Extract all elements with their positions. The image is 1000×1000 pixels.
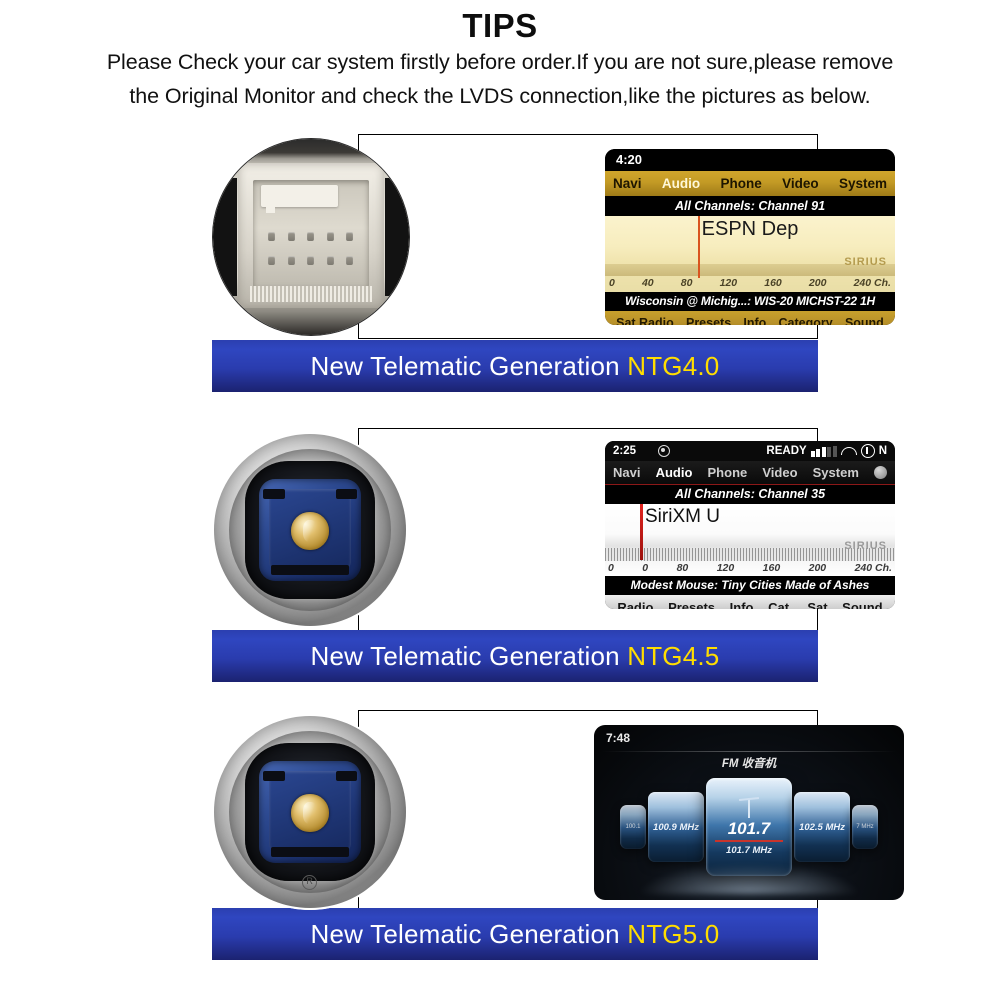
tick-240: 240 Ch. bbox=[854, 277, 891, 289]
antenna-icon bbox=[748, 798, 750, 818]
panel-ntg40-photo-frame: 4:20 Navi Audio Phone Video System All C… bbox=[358, 134, 818, 339]
info-bar-ntg40: Wisconsin @ Michig...: WIS-20 MICHST-22 … bbox=[605, 292, 895, 311]
menu-item-navi[interactable]: Navi bbox=[613, 176, 642, 191]
tuner-needle-ntg40[interactable] bbox=[698, 216, 700, 278]
carousel-tile-right-far[interactable]: 7 MHz bbox=[852, 805, 878, 849]
carousel-tile-left-far[interactable]: 100.1 bbox=[620, 805, 646, 849]
panel-ntg50: 7:48 FM 收音机 100.1 100.9 MHz 101.7 101.7 … bbox=[212, 710, 818, 915]
caption-prefix-ntg45: New Telematic Generation bbox=[311, 641, 628, 671]
carousel-tile-label: 100.1 bbox=[625, 824, 640, 830]
screen-clock-ntg45: 2:25 bbox=[613, 445, 636, 457]
tuner-area-ntg45: SiriXM U SIRIUS 0 0 80 120 160 200 240 C… bbox=[605, 504, 895, 576]
caption-prefix-ntg40: New Telematic Generation bbox=[311, 351, 628, 381]
screen-status-bar-ntg45: 2:25 READY N bbox=[605, 441, 895, 461]
status-ready-label: READY bbox=[766, 445, 806, 457]
header-divider bbox=[602, 751, 896, 752]
tick-80: 80 bbox=[677, 562, 689, 574]
station-name-ntg45: SiriXM U bbox=[645, 506, 720, 528]
tick-200: 200 bbox=[809, 562, 827, 574]
page-title: TIPS bbox=[0, 8, 1000, 44]
panel-ntg45-body: 2:25 READY N Navi Audio Phone Video bbox=[212, 428, 818, 633]
instruction-line-2: the Original Monitor and check the LVDS … bbox=[0, 80, 1000, 113]
screen-glow bbox=[637, 864, 860, 894]
sirius-logo-icon: SIRIUS bbox=[844, 540, 887, 552]
carousel-tile-selected[interactable]: 101.7 101.7 MHz bbox=[706, 778, 792, 876]
carousel-tile-right[interactable]: 102.5 MHz bbox=[794, 792, 850, 862]
selected-frequency-unit: 101.7 MHz bbox=[726, 845, 772, 856]
status-icon-group: READY N bbox=[766, 444, 887, 458]
fm-radio-label: FM 收音机 bbox=[594, 755, 904, 771]
menu-item-video[interactable]: Video bbox=[782, 176, 819, 191]
caption-text-ntg45: New Telematic Generation NTG4.5 bbox=[311, 641, 720, 672]
white-rectangular-lvds-connector-icon bbox=[213, 139, 409, 335]
panel-ntg50-body: 7:48 FM 收音机 100.1 100.9 MHz 101.7 101.7 … bbox=[212, 710, 818, 915]
head-unit-screen-ntg50: 7:48 FM 收音机 100.1 100.9 MHz 101.7 101.7 … bbox=[594, 725, 904, 900]
tips-header: TIPS Please Check your car system firstl… bbox=[0, 0, 1000, 113]
channel-bar-ntg40: All Channels: Channel 91 bbox=[605, 196, 895, 216]
selected-frequency: 101.7 bbox=[728, 820, 771, 837]
tuner-area-ntg40: ESPN Dep SIRIUS 0 40 80 120 160 200 240 … bbox=[605, 216, 895, 292]
carousel-tile-label: 7 MHz bbox=[856, 824, 873, 830]
screen-clock-ntg40: 4:20 bbox=[605, 149, 895, 171]
tick-160: 160 bbox=[764, 277, 782, 289]
bottom-item-presets[interactable]: Presets bbox=[668, 600, 715, 610]
carousel-tile-label: 102.5 MHz bbox=[799, 822, 845, 833]
bottom-item-radio[interactable]: Radio bbox=[617, 600, 653, 610]
carousel-tile-label: 100.9 MHz bbox=[653, 822, 699, 833]
panel-ntg45: 2:25 READY N Navi Audio Phone Video bbox=[212, 428, 818, 633]
screen-bottom-menu-ntg45: Radio Presets Info Cat. Sat Sound bbox=[605, 595, 895, 609]
tuner-ticks-ntg40: 0 40 80 120 160 200 240 Ch. bbox=[605, 275, 895, 291]
menu-item-system[interactable]: System bbox=[839, 176, 887, 191]
menu-item-phone[interactable]: Phone bbox=[708, 465, 748, 480]
tick-200: 200 bbox=[809, 277, 827, 289]
round-metal-lvds-connector-icon: R bbox=[212, 714, 408, 910]
bottom-item-info[interactable]: Info bbox=[743, 316, 766, 325]
warning-icon bbox=[861, 444, 875, 458]
record-dot-icon bbox=[658, 445, 670, 457]
station-name-ntg40: ESPN Dep bbox=[605, 218, 895, 241]
screen-menu-ntg45: Navi Audio Phone Video System bbox=[605, 461, 895, 485]
signal-bars-icon bbox=[811, 446, 837, 457]
caption-code-ntg40: NTG4.0 bbox=[627, 351, 719, 381]
phone-icon bbox=[841, 447, 857, 455]
caption-text-ntg40: New Telematic Generation NTG4.0 bbox=[311, 351, 720, 382]
bottom-item-sound[interactable]: Sound bbox=[842, 600, 882, 610]
caption-text-ntg50: New Telematic Generation NTG5.0 bbox=[311, 919, 720, 950]
tick-0a: 0 bbox=[608, 562, 614, 574]
round-metal-lvds-connector-icon bbox=[212, 432, 408, 628]
head-unit-screen-ntg40: 4:20 Navi Audio Phone Video System All C… bbox=[605, 149, 895, 325]
panel-ntg45-photo-frame: 2:25 READY N Navi Audio Phone Video bbox=[358, 428, 818, 633]
connector-photo-ntg45 bbox=[212, 432, 408, 628]
tick-0b: 0 bbox=[642, 562, 648, 574]
selected-underline bbox=[715, 840, 783, 842]
bottom-item-sat[interactable]: Sat bbox=[807, 600, 827, 610]
connector-photo-ntg50: R bbox=[212, 714, 408, 910]
tick-0: 0 bbox=[609, 277, 615, 289]
panel-ntg40-body: 4:20 Navi Audio Phone Video System All C… bbox=[212, 134, 818, 339]
menu-item-navi[interactable]: Navi bbox=[613, 465, 640, 480]
instruction-line-1: Please Check your car system firstly bef… bbox=[0, 46, 1000, 79]
screen-menu-ntg40: Navi Audio Phone Video System bbox=[605, 171, 895, 196]
bottom-item-info[interactable]: Info bbox=[730, 600, 754, 610]
globe-icon bbox=[874, 466, 887, 479]
caption-ntg40: New Telematic Generation NTG4.0 bbox=[212, 340, 818, 392]
panel-ntg40: 4:20 Navi Audio Phone Video System All C… bbox=[212, 134, 818, 339]
bottom-item-presets[interactable]: Presets bbox=[686, 316, 731, 325]
tick-120: 120 bbox=[720, 277, 738, 289]
caption-code-ntg50: NTG5.0 bbox=[627, 919, 719, 949]
gold-pin-icon bbox=[291, 794, 328, 831]
menu-item-system[interactable]: System bbox=[813, 465, 859, 480]
caption-prefix-ntg50: New Telematic Generation bbox=[311, 919, 628, 949]
tuner-ticks-ntg45: 0 0 80 120 160 200 240 Ch. bbox=[605, 560, 895, 576]
menu-item-phone[interactable]: Phone bbox=[720, 176, 761, 191]
sirius-logo-icon: SIRIUS bbox=[844, 256, 887, 268]
tuner-needle-ntg45[interactable] bbox=[640, 504, 644, 560]
screen-bottom-menu-ntg40: Sat Radio Presets Info Category Sound bbox=[605, 311, 895, 325]
caption-code-ntg45: NTG4.5 bbox=[627, 641, 719, 671]
gear-position-label: N bbox=[879, 445, 887, 457]
menu-item-audio[interactable]: Audio bbox=[662, 176, 700, 191]
tick-120: 120 bbox=[717, 562, 735, 574]
tick-40: 40 bbox=[642, 277, 654, 289]
screen-clock-ntg50: 7:48 bbox=[606, 731, 630, 745]
menu-item-audio[interactable]: Audio bbox=[656, 465, 693, 480]
info-bar-ntg45: Modest Mouse: Tiny Cities Made of Ashes bbox=[605, 576, 895, 595]
caption-ntg50: New Telematic Generation NTG5.0 bbox=[212, 908, 818, 960]
tick-80: 80 bbox=[681, 277, 693, 289]
bottom-item-cat[interactable]: Cat. bbox=[768, 600, 793, 610]
panel-ntg50-photo-frame: 7:48 FM 收音机 100.1 100.9 MHz 101.7 101.7 … bbox=[358, 710, 818, 915]
channel-bar-ntg45: All Channels: Channel 35 bbox=[605, 485, 895, 504]
connector-photo-ntg40 bbox=[212, 138, 410, 336]
tick-240: 240 Ch. bbox=[855, 562, 892, 574]
tick-160: 160 bbox=[763, 562, 781, 574]
caption-ntg45: New Telematic Generation NTG4.5 bbox=[212, 630, 818, 682]
bottom-item-sound[interactable]: Sound bbox=[845, 316, 884, 325]
head-unit-screen-ntg45: 2:25 READY N Navi Audio Phone Video bbox=[605, 441, 895, 609]
fm-station-carousel[interactable]: 100.1 100.9 MHz 101.7 101.7 MHz 102.5 MH… bbox=[594, 777, 904, 877]
bottom-item-sat-radio[interactable]: Sat Radio bbox=[616, 316, 674, 325]
gold-pin-icon bbox=[291, 512, 328, 549]
carousel-tile-left[interactable]: 100.9 MHz bbox=[648, 792, 704, 862]
bottom-item-category[interactable]: Category bbox=[779, 316, 833, 325]
menu-item-video[interactable]: Video bbox=[762, 465, 797, 480]
